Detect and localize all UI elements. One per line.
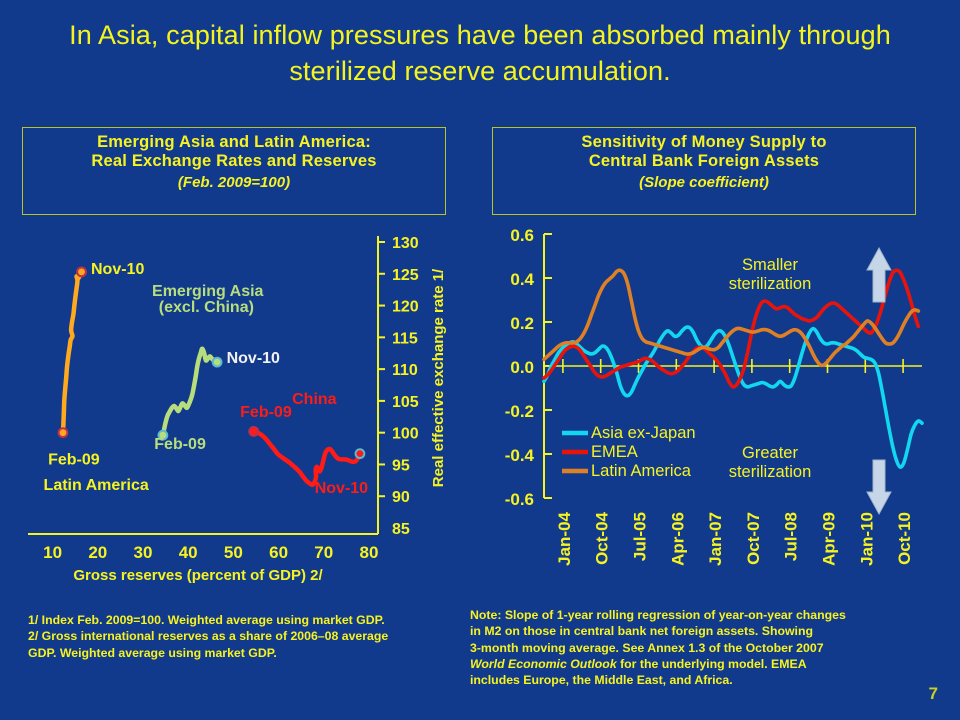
- left-chart-footnote: 1/ Index Feb. 2009=100. Weighted average…: [28, 612, 458, 661]
- right-chart-y-tick-label: -0.6: [505, 490, 534, 509]
- right-chart-smaller-sterilization-note-line2: sterilization: [729, 275, 812, 293]
- left-chart-title-line2: Real Exchange Rates and Reserves: [27, 152, 441, 171]
- left-chart-x-tick-label: 80: [360, 543, 379, 562]
- right-footnote-line-1: Note: Slope of 1-year rolling regression…: [470, 607, 922, 623]
- right-footnote-line-4-tail: for the underlying model. EMEA: [617, 657, 807, 671]
- left-footnote-line-3: GDP. Weighted average using market GDP.: [28, 645, 458, 661]
- left-chart-x-tick-label: 50: [224, 543, 243, 562]
- right-footnote-line-4: World Economic Outlook for the underlyin…: [470, 656, 922, 672]
- left-chart-y-axis-title: Real effective exchange rate 1/: [430, 268, 447, 487]
- right-footnote-line-2: in M2 on those in central bank net forei…: [470, 623, 922, 639]
- down-arrow-icon: [867, 460, 891, 514]
- right-chart-x-tick-label: Apr-09: [820, 512, 839, 566]
- right-chart-x-tick-label: Oct-07: [744, 512, 763, 565]
- left-chart-annotation-8: Feb-09: [240, 404, 292, 421]
- left-chart-annotation-0: Nov-10: [91, 261, 144, 278]
- right-chart-legend-label-1: EMEA: [591, 443, 638, 461]
- right-chart-y-tick-label: 0.2: [510, 314, 534, 333]
- left-chart-y-tick-label: 105: [392, 394, 419, 411]
- left-chart-annotation-5: Nov-10: [227, 350, 280, 367]
- left-chart-y-tick-label: 95: [392, 457, 410, 474]
- left-chart-title-line1: Emerging Asia and Latin America:: [27, 133, 441, 152]
- left-chart-x-tick-label: 10: [43, 543, 62, 562]
- left-chart-y-tick-label: 115: [392, 330, 418, 347]
- right-chart-legend-label-2: Latin America: [591, 462, 692, 480]
- up-arrow-icon: [867, 248, 891, 302]
- right-chart-x-tick-label: Oct-04: [593, 511, 612, 564]
- rer-vs-reserves-plot: 8590951001051101151201251301020304050607…: [22, 228, 458, 588]
- left-chart-y-tick-label: 85: [392, 521, 410, 538]
- right-chart-x-tick-label: Jan-07: [706, 512, 725, 566]
- right-chart-y-tick-label: 0.6: [510, 226, 534, 245]
- left-chart-annotation-2: Latin America: [44, 477, 149, 494]
- left-chart-annotation-7: China: [292, 391, 337, 408]
- left-footnote-line-1: 1/ Index Feb. 2009=100. Weighted average…: [28, 612, 458, 628]
- slide-canvas: In Asia, capital inflow pressures have b…: [0, 0, 960, 720]
- right-chart-x-tick-label: Apr-06: [668, 512, 687, 566]
- right-chart-title-line1: Sensitivity of Money Supply to: [497, 133, 911, 152]
- right-chart-y-tick-label: -0.2: [505, 402, 534, 421]
- left-chart-annotation-9: Nov-10: [315, 480, 368, 497]
- right-chart-greater-sterilization-note-line1: Greater: [742, 444, 798, 462]
- left-chart-x-tick-label: 40: [179, 543, 198, 562]
- right-chart-x-tick-label: Jul-05: [631, 512, 650, 561]
- left-chart-series-0-start-marker: [59, 428, 68, 437]
- left-chart-x-tick-label: 30: [134, 543, 153, 562]
- left-chart-series-0: [63, 271, 82, 432]
- left-chart-annotation-4: (excl. China): [159, 299, 254, 316]
- right-chart-x-tick-label: Oct-10: [895, 512, 914, 565]
- left-chart-y-tick-label: 120: [392, 299, 419, 316]
- left-chart-annotation-1: Feb-09: [48, 451, 100, 468]
- right-chart-smaller-sterilization-note-line1: Smaller: [742, 256, 798, 274]
- right-chart-legend-label-0: Asia ex-Japan: [591, 424, 696, 442]
- right-chart-y-tick-label: 0.4: [510, 270, 534, 289]
- left-chart-y-tick-label: 90: [392, 489, 410, 506]
- left-chart-x-axis-title: Gross reserves (percent of GDP) 2/: [73, 567, 323, 584]
- right-chart: -0.6-0.4-0.20.00.20.40.6Jan-04Oct-04Jul-…: [470, 226, 930, 596]
- left-chart-y-tick-label: 110: [392, 362, 418, 379]
- right-footnote-line-5: includes Europe, the Middle East, and Af…: [470, 672, 922, 688]
- right-chart-y-tick-label: -0.4: [505, 446, 535, 465]
- page-number: 7: [929, 684, 938, 704]
- left-chart: 8590951001051101151201251301020304050607…: [22, 228, 458, 588]
- right-footnote-italic: World Economic Outlook: [470, 657, 617, 671]
- left-chart-y-tick-label: 130: [392, 235, 419, 252]
- right-chart-x-tick-label: Jan-04: [555, 511, 574, 565]
- left-chart-y-tick-label: 125: [392, 267, 419, 284]
- left-chart-title-box: Emerging Asia and Latin America: Real Ex…: [22, 127, 446, 215]
- left-chart-series-1: [162, 349, 217, 439]
- page-title: In Asia, capital inflow pressures have b…: [24, 18, 936, 90]
- left-footnote-line-2: 2/ Gross international reserves as a sha…: [28, 628, 458, 644]
- left-chart-series-0-end-marker: [77, 267, 86, 276]
- left-chart-x-tick-label: 60: [269, 543, 288, 562]
- left-chart-annotation-3: Emerging Asia: [152, 283, 264, 300]
- left-chart-annotation-6: Feb-09: [154, 436, 206, 453]
- right-chart-x-tick-label: Jul-08: [782, 512, 801, 561]
- right-footnote-line-3: 3-month moving average. See Annex 1.3 of…: [470, 640, 922, 656]
- right-chart-greater-sterilization-note-line2: sterilization: [729, 463, 812, 481]
- left-chart-x-tick-label: 20: [88, 543, 107, 562]
- left-chart-title-line3: (Feb. 2009=100): [27, 173, 441, 193]
- left-chart-series-1-end-marker: [213, 358, 222, 367]
- left-chart-series-2-end-marker: [356, 449, 365, 458]
- money-supply-sensitivity-plot: -0.6-0.4-0.20.00.20.40.6Jan-04Oct-04Jul-…: [470, 226, 930, 596]
- right-chart-title-line2: Central Bank Foreign Assets: [497, 152, 911, 171]
- right-chart-footnote: Note: Slope of 1-year rolling regression…: [470, 607, 922, 689]
- left-chart-series-2-start-marker: [249, 427, 258, 436]
- right-chart-title-box: Sensitivity of Money Supply to Central B…: [492, 127, 916, 215]
- right-chart-y-tick-label: 0.0: [510, 358, 534, 377]
- left-chart-series-2: [254, 431, 360, 484]
- right-chart-title-line3: (Slope coefficient): [497, 173, 911, 193]
- left-chart-y-tick-label: 100: [392, 426, 419, 443]
- right-chart-x-tick-label: Jan-10: [857, 512, 876, 566]
- left-chart-x-tick-label: 70: [314, 543, 333, 562]
